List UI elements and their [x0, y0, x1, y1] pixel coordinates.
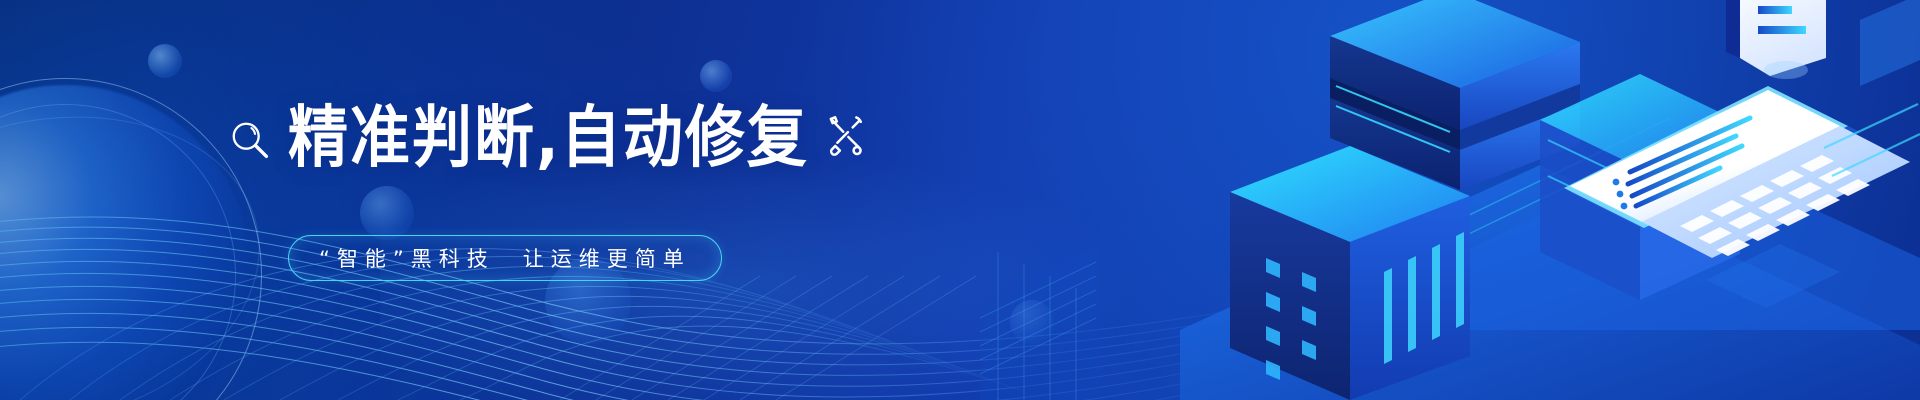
banner-content: 精准判断,自动修复 “智能”黑科技 让运维更简单	[0, 0, 1000, 400]
headline-row: 精准判断,自动修复	[228, 108, 869, 168]
page-title: 精准判断,自动修复	[288, 104, 809, 171]
isometric-illustration	[980, 0, 1920, 400]
promo-banner: 精准判断,自动修复 “智能”黑科技 让运维更简单	[0, 0, 1920, 400]
building-block	[1230, 146, 1470, 400]
subtitle-text: “智能”黑科技 让运维更简单	[319, 243, 691, 273]
magnifier-icon	[228, 118, 274, 164]
document-card	[1726, 0, 1826, 79]
subtitle-pill: “智能”黑科技 让运维更简单	[288, 235, 722, 281]
wrench-icon	[823, 113, 869, 159]
